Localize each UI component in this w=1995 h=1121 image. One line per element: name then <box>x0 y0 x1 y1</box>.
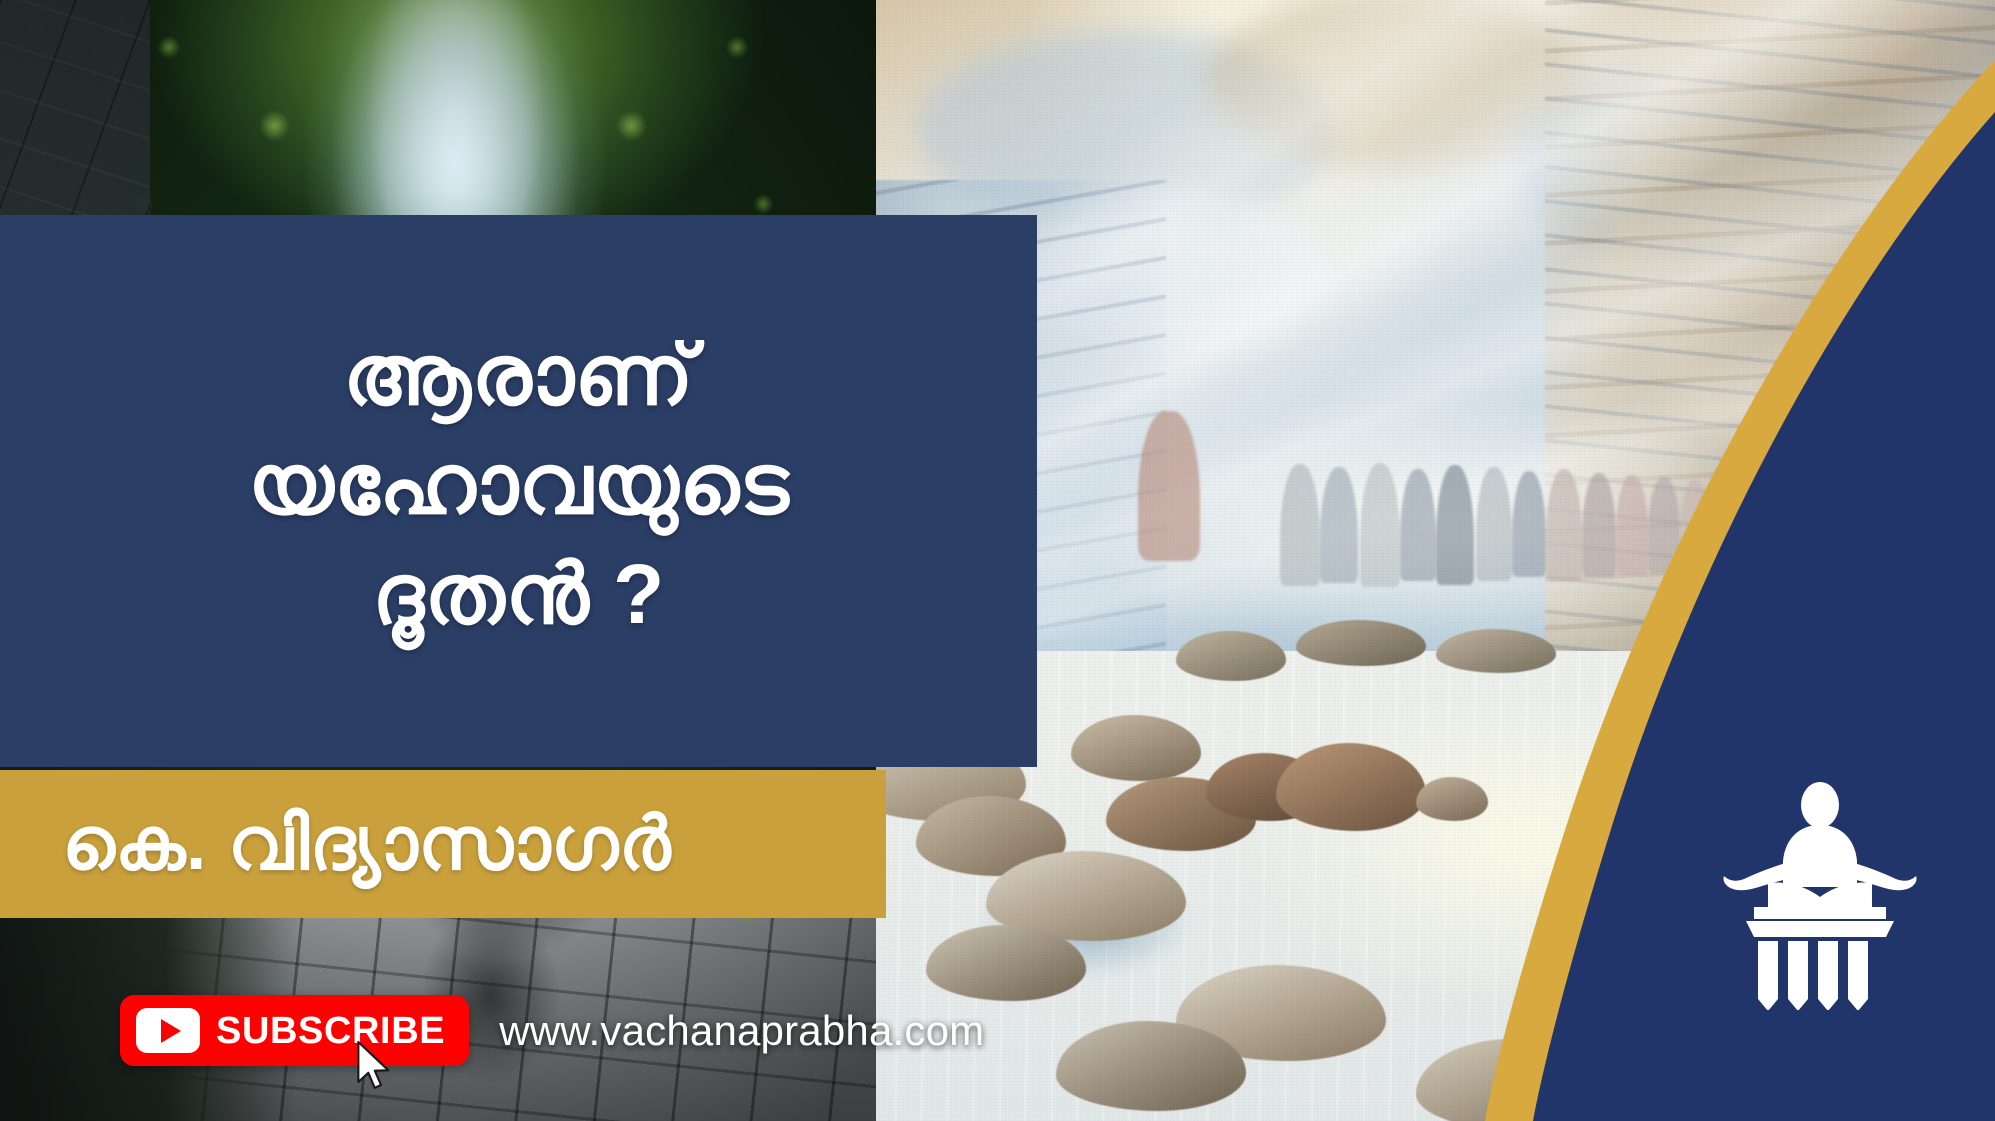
logo-head <box>1801 782 1839 828</box>
mouse-cursor-icon <box>355 1040 395 1094</box>
logo-column <box>1788 941 1808 999</box>
logo-column <box>1848 941 1868 999</box>
subscribe-button[interactable]: SUBSCRIBE <box>120 995 469 1066</box>
youtube-play-icon <box>136 1008 200 1053</box>
youtube-thumbnail: ആരാണ് യഹോവയുടെ ദൂതൻ ? കെ. വിദ്യാസാഗർ SUB… <box>0 0 1995 1121</box>
author-name: കെ. വിദ്യാസാഗർ <box>62 807 671 881</box>
preacher-at-pulpit-logo <box>1700 775 1940 1010</box>
subscribe-row: SUBSCRIBE www.vachanaprabha.com <box>120 995 984 1066</box>
logo-column <box>1758 941 1778 999</box>
title-line-3: ദൂതൻ ? <box>372 540 665 649</box>
author-banner: കെ. വിദ്യാസാഗർ <box>0 770 886 918</box>
logo-column <box>1818 941 1838 999</box>
title-line-2: യഹോവയുടെ <box>248 430 789 539</box>
logo-base-point <box>1848 999 1868 1010</box>
logo-pulpit-top <box>1754 907 1886 919</box>
logo-pulpit-capital <box>1746 921 1894 937</box>
logo-torso <box>1783 825 1857 887</box>
title-box: ആരാണ് യഹോവയുടെ ദൂതൻ ? <box>0 215 1037 767</box>
title-line-1: ആരാണ് <box>343 321 694 430</box>
website-url[interactable]: www.vachanaprabha.com <box>499 1007 984 1055</box>
logo-base-point <box>1758 999 1778 1010</box>
logo-base-point <box>1788 999 1808 1010</box>
logo-base-point <box>1818 999 1838 1010</box>
subscribe-label: SUBSCRIBE <box>216 1012 445 1050</box>
